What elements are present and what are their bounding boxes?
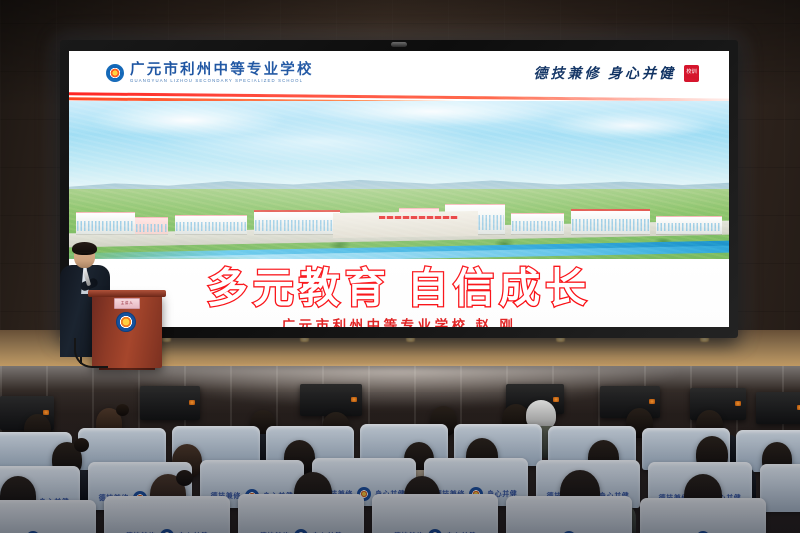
audience-chair: 德技兼修 身心并健 bbox=[372, 494, 498, 533]
motto-seal-icon: 校训 bbox=[684, 65, 699, 82]
audience-hair-bun bbox=[116, 404, 129, 416]
school-emblem-icon bbox=[116, 312, 136, 332]
audience-chair bbox=[760, 464, 800, 512]
clouds bbox=[69, 101, 729, 189]
audience-chair: 德技兼修 身心并健 bbox=[506, 496, 632, 533]
campus-panorama-photo bbox=[69, 101, 729, 259]
podium-nameplate: 主讲人 bbox=[114, 298, 140, 309]
podium-top-surface bbox=[88, 290, 166, 297]
auditorium-scene: 广元市利州中等专业学校 GUANGYUAN LIZHOU SECONDARY S… bbox=[0, 0, 800, 533]
audience-chair: 德技兼修 身心并健 bbox=[0, 500, 96, 533]
campus-banner bbox=[379, 216, 458, 219]
seated-audience: 德技兼修 身心并健 德技兼修 身心并健 德技兼修 身心并健 德技兼修 身 bbox=[0, 392, 800, 533]
seal-text: 校训 bbox=[686, 70, 696, 75]
school-motto: 德技兼修 身心并健 校训 bbox=[534, 63, 700, 83]
screen-camera-icon bbox=[391, 42, 407, 47]
school-name-en: GUANGYUAN LIZHOU SECONDARY SPECIALIZED S… bbox=[130, 79, 314, 83]
podium-nameplate-text: 主讲人 bbox=[121, 301, 134, 306]
school-emblem-icon bbox=[428, 529, 442, 533]
school-emblem-icon bbox=[160, 529, 174, 533]
school-name-cn: 广元市利州中等专业学校 bbox=[130, 63, 314, 78]
audience-hair-bun bbox=[176, 470, 193, 486]
chair-cover-print: 德技兼修 身心并健 bbox=[104, 529, 230, 533]
chair-cover-print: 德技兼修 身心并健 bbox=[238, 529, 364, 533]
school-logo: 广元市利州中等专业学校 GUANGYUAN LIZHOU SECONDARY S… bbox=[106, 63, 314, 84]
audience-chair: 德技兼修 身心并健 bbox=[104, 496, 230, 533]
audience-hair-bun bbox=[74, 438, 89, 452]
podium-group: 主讲人 bbox=[52, 246, 182, 368]
audience-chair: 德技兼修 身心并健 bbox=[640, 498, 766, 533]
chair-cover-print: 德技兼修 身心并健 bbox=[372, 529, 498, 533]
presenter-glasses bbox=[75, 252, 94, 256]
motto-text: 德技兼修 身心并健 bbox=[534, 63, 677, 83]
school-emblem-icon bbox=[294, 529, 308, 533]
school-crest-icon bbox=[106, 64, 124, 82]
audience-chair: 德技兼修 身心并健 bbox=[238, 494, 364, 533]
